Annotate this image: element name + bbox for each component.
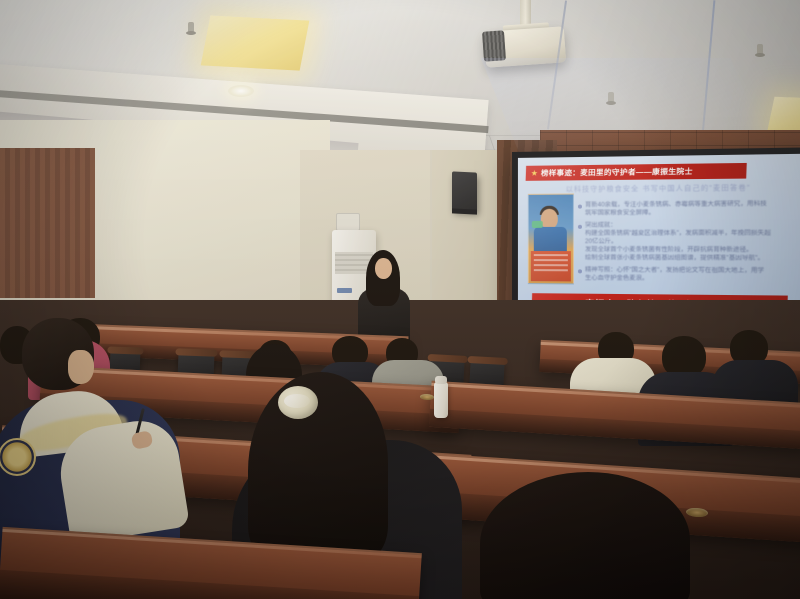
hair-scrunchie-highlight	[284, 394, 310, 408]
student-scrunchie-hair	[248, 372, 388, 562]
slide-body-text: 育新40余载，专注小麦条锈病、赤霉病等重大病害研究，用科技 筑牢国家粮食安全屏障…	[578, 200, 800, 288]
chair-frame	[468, 356, 508, 365]
slide-heading: 以科技守护粮食安全 书写中国人自己的"麦田答卷"	[566, 182, 800, 194]
bullet-line: 突出成就：	[585, 221, 800, 230]
bullet-lines: 精神写照：心怀"国之大者"，发扬把论文写在祖国大地上，用学 生心血守护金色麦浪。	[585, 266, 800, 284]
bullet-line: 构建全国条锈病"越夏区治理体系"，发病面积减半，年挽回损失超	[585, 229, 800, 237]
star-icon: ★	[531, 169, 538, 177]
sprinkler-icon	[188, 22, 194, 33]
slide-bullet: 精神写照：心怀"国之大者"，发扬把论文写在祖国大地上，用学 生心血守护金色麦浪。	[578, 266, 800, 284]
slide-title-text: 榜样事迹：麦田里的守护者——康振生院士	[541, 166, 693, 179]
bullet-dot-icon	[578, 205, 582, 209]
wall-speaker	[452, 171, 477, 211]
bullet-dot-icon	[578, 269, 582, 273]
lecture-hall-photo: ★ 榜样事迹：麦田里的守护者——康振生院士 以科技守护粮食安全 书写中国人自己的…	[0, 0, 800, 599]
projector-lens-icon	[482, 30, 506, 61]
student-varsity-face	[68, 350, 94, 384]
caption-line	[534, 269, 568, 271]
sprinkler-icon	[757, 44, 763, 55]
portrait-caption-block	[531, 251, 571, 281]
thermos-bottle-cap	[435, 376, 447, 384]
slide-title-banner: ★ 榜样事迹：麦田里的守护者——康振生院士	[526, 163, 747, 181]
panel-light-icon	[201, 15, 310, 70]
presenter-face	[375, 258, 392, 279]
sprinkler-icon	[608, 92, 614, 103]
slide-portrait-photo	[528, 193, 574, 284]
chair-frame	[428, 354, 468, 363]
caption-line	[534, 254, 568, 256]
slide-bullet: 育新40余载，专注小麦条锈病、赤霉病等重大病害研究，用科技 筑牢国家粮食安全屏障…	[578, 200, 800, 218]
bullet-lines: 突出成就： 构建全国条锈病"越夏区治理体系"，发病面积减半，年挽回损失超 20亿…	[585, 221, 800, 263]
bullet-line: 生心血守护金色麦浪。	[585, 274, 800, 284]
thermos-bottle	[434, 382, 448, 418]
wood-paneling-left	[0, 148, 95, 298]
caption-line	[534, 259, 568, 261]
desk-front-panel	[0, 569, 419, 599]
bullet-dot-icon	[578, 225, 582, 229]
bullet-line: 绘制全球首张小麦条锈病菌基因组图谱，提供精准"基因导航"。	[585, 254, 800, 263]
bullet-line: 筑牢国家粮食安全屏障。	[585, 208, 800, 217]
ac-control-plate	[336, 213, 360, 231]
portrait-badge-icon	[532, 221, 543, 228]
chair-frame	[175, 348, 217, 356]
bullet-line: 20亿公斤。	[585, 238, 800, 246]
chair-frame	[107, 346, 143, 354]
ac-brand-logo	[337, 288, 352, 293]
caption-line	[534, 264, 568, 266]
slide-bullet: 突出成就： 构建全国条锈病"越夏区治理体系"，发病面积减半，年挽回损失超 20亿…	[578, 221, 800, 263]
bullet-lines: 育新40余载，专注小麦条锈病、赤霉病等重大病害研究，用科技 筑牢国家粮食安全屏障…	[585, 200, 800, 218]
downlight-icon	[228, 85, 254, 97]
portrait-jacket	[534, 227, 567, 251]
